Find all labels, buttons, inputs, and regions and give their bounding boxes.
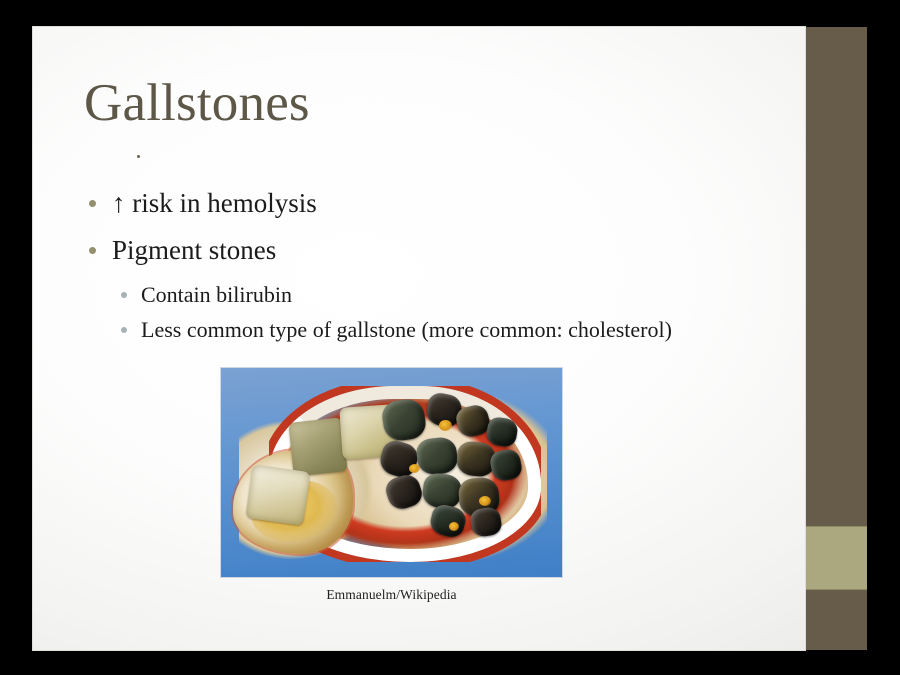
bullet-text: Contain bilirubin [141,279,292,310]
figure-caption: Emmanuelm/Wikipedia [220,587,563,603]
bullet-marker-icon [89,247,96,254]
bile-highlight [439,420,452,431]
sub-bullet-marker-icon [121,292,127,298]
list-item: ↑ risk in hemolysis [89,184,789,222]
slide-title: Gallstones [84,75,310,132]
figure: Emmanuelm/Wikipedia [220,367,563,603]
list-item: Less common type of gallstone (more comm… [121,314,789,345]
pale-stone [288,417,347,476]
bullet-list: ↑ risk in hemolysis Pigment stones Conta… [89,184,789,349]
title-underline-artifact [137,155,140,158]
slide-canvas: Gallstones ↑ risk in hemolysis Pigment s… [33,27,805,650]
list-item: Contain bilirubin [121,279,789,310]
bullet-text: ↑ risk in hemolysis [112,184,317,222]
gallbladder-specimen [233,376,553,572]
bullet-marker-icon [89,200,96,207]
list-item: Pigment stones [89,231,789,269]
bile-highlight [479,496,491,506]
gallstone-photo [220,367,563,578]
presentation-viewport: Gallstones ↑ risk in hemolysis Pigment s… [0,0,900,675]
bullet-text: Less common type of gallstone (more comm… [141,314,672,345]
sub-bullet-marker-icon [121,327,127,333]
bullet-text: Pigment stones [112,231,276,269]
bile-highlight [449,522,459,531]
bile-highlight [409,464,420,473]
slide-sidebar-accent-block [805,526,867,590]
pale-stone [246,464,311,526]
